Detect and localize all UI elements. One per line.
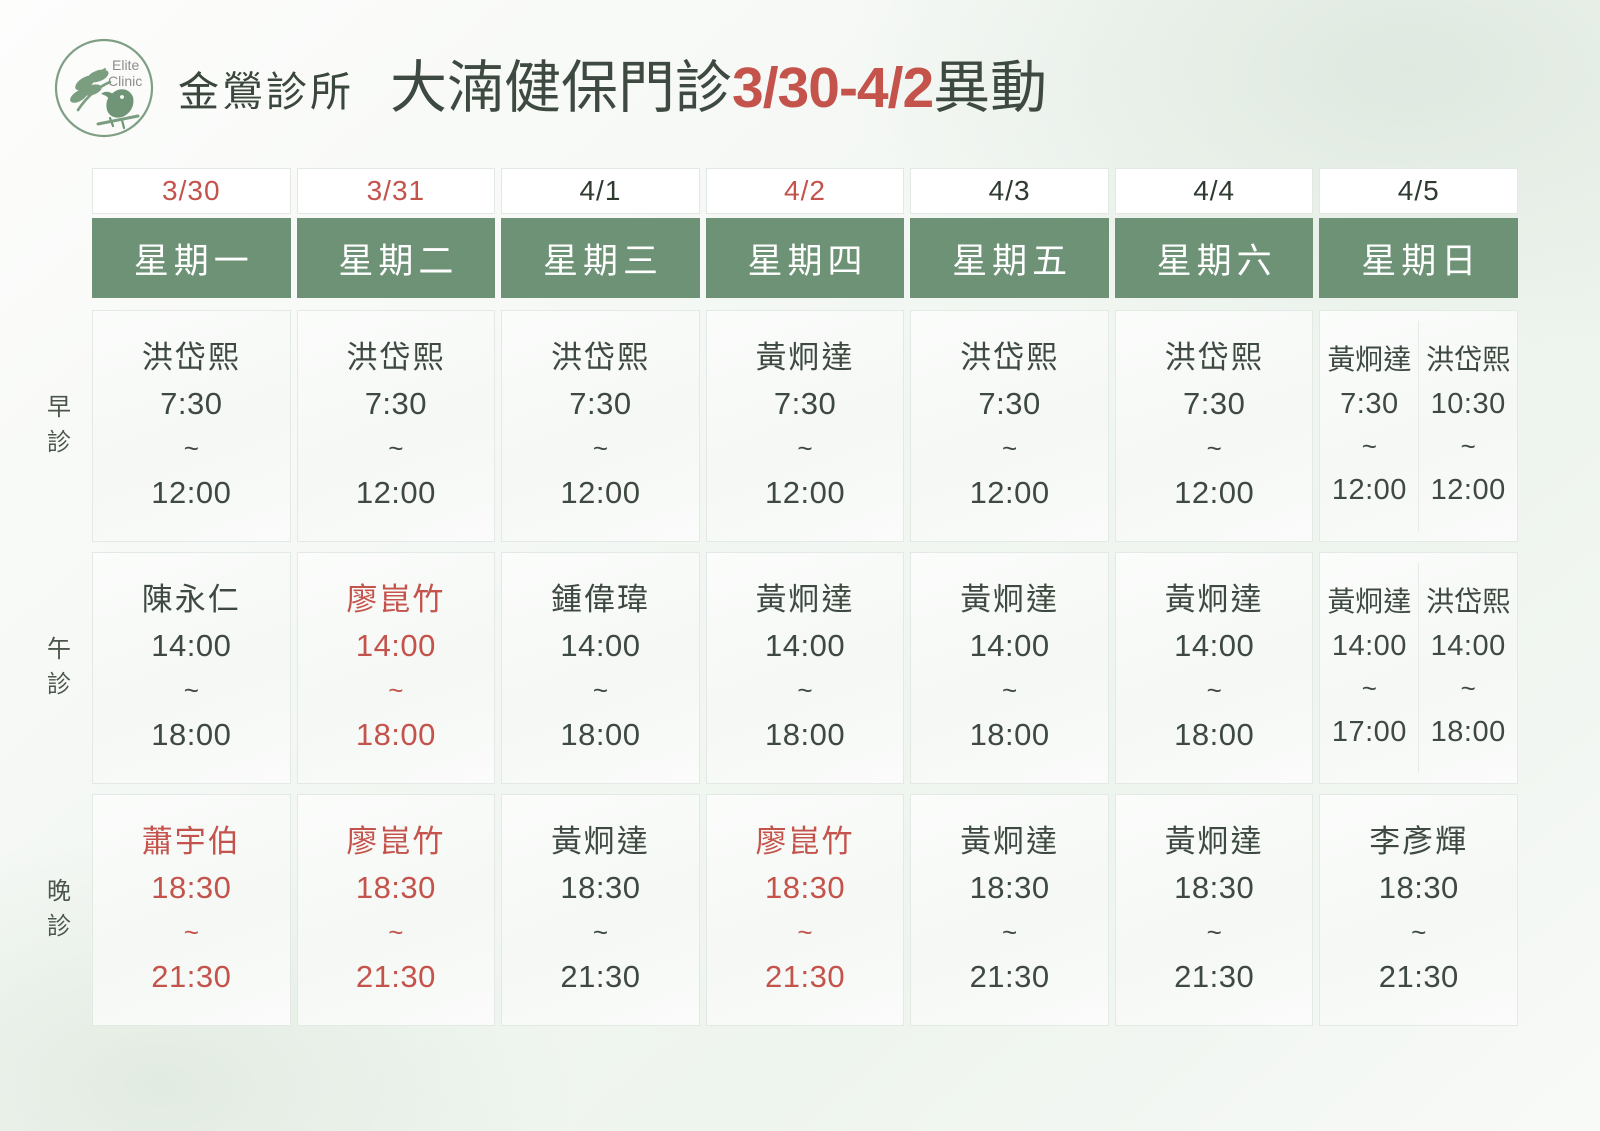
start-time: 18:30 bbox=[560, 869, 640, 908]
page-title: 大湳健保門診3/30-4/2異動 bbox=[390, 60, 1047, 117]
slot-wrap: 黃炯達7:30~12:00 bbox=[706, 310, 905, 542]
end-time: 12:00 bbox=[356, 474, 436, 513]
end-time: 21:30 bbox=[765, 958, 845, 997]
schedule-col-0: 陳永仁14:00~18:00 bbox=[92, 552, 291, 784]
end-time: 18:00 bbox=[560, 716, 640, 755]
schedule-slot[interactable]: 黃炯達18:30~21:30 bbox=[1115, 794, 1314, 1026]
schedule-slot[interactable]: 洪岱熙7:30~12:00 bbox=[297, 310, 496, 542]
start-time: 14:00 bbox=[560, 627, 640, 666]
time-separator: ~ bbox=[1362, 664, 1377, 713]
doctor-name: 洪岱熙 bbox=[346, 340, 445, 376]
title-suffix: 異動 bbox=[933, 56, 1047, 120]
time-separator: ~ bbox=[797, 666, 812, 715]
schedule-col-3: 黃炯達14:00~18:00 bbox=[706, 552, 905, 784]
weekday-cell: 星期六 bbox=[1115, 218, 1314, 298]
doctor-name: 洪岱熙 bbox=[1426, 344, 1510, 376]
schedule-col-2: 黃炯達18:30~21:30 bbox=[501, 794, 700, 1026]
split-slot-group: 黃炯達14:00~17:00洪岱熙14:00~18:00 bbox=[1320, 563, 1517, 773]
start-time: 14:00 bbox=[1431, 628, 1506, 664]
end-time: 18:00 bbox=[1174, 716, 1254, 755]
start-time: 18:30 bbox=[151, 869, 231, 908]
weekday-cell: 星期三 bbox=[501, 218, 700, 298]
date-col-3: 4/2 bbox=[706, 168, 905, 214]
end-time: 21:30 bbox=[560, 958, 640, 997]
time-separator: ~ bbox=[1461, 422, 1476, 471]
schedule-slot[interactable]: 黃炯達7:30~12:00 bbox=[706, 310, 905, 542]
clinic-name: 金鶯診所 bbox=[178, 58, 354, 118]
time-separator: ~ bbox=[1207, 908, 1222, 957]
weekday-col-0: 星期一 bbox=[92, 218, 291, 298]
doctor-name: 黃炯達 bbox=[960, 824, 1059, 860]
date-col-2: 4/1 bbox=[501, 168, 700, 214]
session-label-char: 診 bbox=[45, 426, 75, 461]
schedule-subslot[interactable]: 黃炯達14:00~17:00 bbox=[1320, 563, 1418, 773]
date-cell: 4/4 bbox=[1115, 168, 1314, 214]
doctor-name: 黃炯達 bbox=[756, 582, 855, 618]
slot-wrap: 黃炯達14:00~18:00 bbox=[706, 552, 905, 784]
start-time: 14:00 bbox=[1174, 627, 1254, 666]
time-separator: ~ bbox=[1461, 664, 1476, 713]
start-time: 14:00 bbox=[151, 627, 231, 666]
date-col-6: 4/5 bbox=[1319, 168, 1518, 214]
start-time: 18:30 bbox=[1174, 869, 1254, 908]
title-date-range: 3/30-4/2 bbox=[732, 56, 933, 120]
session-row: 午診陳永仁14:00~18:00廖崑竹14:00~18:00鍾偉瑋14:00~1… bbox=[28, 552, 1518, 784]
schedule-col-6: 黃炯達14:00~17:00洪岱熙14:00~18:00 bbox=[1319, 552, 1518, 784]
schedule-col-4: 洪岱熙7:30~12:00 bbox=[910, 310, 1109, 542]
session-label: 午診 bbox=[45, 633, 75, 703]
schedule-subslot[interactable]: 黃炯達7:30~12:00 bbox=[1320, 321, 1418, 531]
doctor-name: 廖崑竹 bbox=[756, 824, 855, 860]
schedule-col-2: 鍾偉瑋14:00~18:00 bbox=[501, 552, 700, 784]
end-time: 12:00 bbox=[1332, 472, 1407, 508]
weekday-col-1: 星期二 bbox=[297, 218, 496, 298]
schedule-poster: Elite Clinic 金鶯診所 大湳健保門診3/30-4/2異動 3/30 … bbox=[0, 0, 1600, 1131]
end-time: 18:00 bbox=[356, 716, 436, 755]
schedule-col-1: 廖崑竹18:30~21:30 bbox=[297, 794, 496, 1026]
logo-text-line2: Clinic bbox=[108, 73, 142, 89]
slot-wrap: 黃炯達18:30~21:30 bbox=[1115, 794, 1314, 1026]
schedule-slot[interactable]: 黃炯達14:00~18:00 bbox=[910, 552, 1109, 784]
doctor-name: 蕭宇伯 bbox=[142, 824, 241, 860]
end-time: 12:00 bbox=[765, 474, 845, 513]
schedule-col-6: 黃炯達7:30~12:00洪岱熙10:30~12:00 bbox=[1319, 310, 1518, 542]
slot-wrap: 洪岱熙7:30~12:00 bbox=[910, 310, 1109, 542]
schedule-slot[interactable]: 黃炯達18:30~21:30 bbox=[910, 794, 1109, 1026]
slot-wrap: 蕭宇伯18:30~21:30 bbox=[92, 794, 291, 1026]
time-separator: ~ bbox=[797, 424, 812, 473]
time-separator: ~ bbox=[388, 424, 403, 473]
schedule-slot[interactable]: 黃炯達18:30~21:30 bbox=[501, 794, 700, 1026]
time-separator: ~ bbox=[184, 424, 199, 473]
slot-wrap: 洪岱熙7:30~12:00 bbox=[501, 310, 700, 542]
weekday-cell: 星期一 bbox=[92, 218, 291, 298]
time-separator: ~ bbox=[593, 424, 608, 473]
schedule-slot[interactable]: 廖崑竹18:30~21:30 bbox=[706, 794, 905, 1026]
doctor-name: 李彥輝 bbox=[1369, 824, 1468, 860]
schedule-slot[interactable]: 蕭宇伯18:30~21:30 bbox=[92, 794, 291, 1026]
weekday-header-row: 星期一 星期二 星期三 星期四 星期五 星期六 星期日 bbox=[28, 218, 1518, 298]
clinic-logo: Elite Clinic bbox=[52, 36, 156, 140]
doctor-name: 黃炯達 bbox=[1165, 824, 1264, 860]
weekday-col-5: 星期六 bbox=[1115, 218, 1314, 298]
time-separator: ~ bbox=[593, 908, 608, 957]
time-separator: ~ bbox=[184, 908, 199, 957]
end-time: 18:00 bbox=[151, 716, 231, 755]
schedule-slot[interactable]: 黃炯達14:00~18:00 bbox=[1115, 552, 1314, 784]
schedule-slot[interactable]: 洪岱熙7:30~12:00 bbox=[501, 310, 700, 542]
start-time: 7:30 bbox=[1340, 386, 1398, 422]
slot-wrap: 鍾偉瑋14:00~18:00 bbox=[501, 552, 700, 784]
schedule-slot[interactable]: 李彥輝18:30~21:30 bbox=[1319, 794, 1518, 1026]
end-time: 12:00 bbox=[1174, 474, 1254, 513]
session-row: 早診洪岱熙7:30~12:00洪岱熙7:30~12:00洪岱熙7:30~12:0… bbox=[28, 310, 1518, 542]
date-header-row: 3/30 3/31 4/1 4/2 4/3 4/4 4/5 bbox=[28, 168, 1518, 214]
time-separator: ~ bbox=[184, 666, 199, 715]
schedule-col-5: 洪岱熙7:30~12:00 bbox=[1115, 310, 1314, 542]
start-time: 7:30 bbox=[365, 385, 427, 424]
session-rows: 早診洪岱熙7:30~12:00洪岱熙7:30~12:00洪岱熙7:30~12:0… bbox=[28, 310, 1518, 1026]
weekday-col-4: 星期五 bbox=[910, 218, 1109, 298]
slot-wrap: 廖崑竹18:30~21:30 bbox=[297, 794, 496, 1026]
end-time: 18:00 bbox=[970, 716, 1050, 755]
schedule-slot[interactable]: 陳永仁14:00~18:00 bbox=[92, 552, 291, 784]
session-label-char: 晚 bbox=[45, 875, 75, 910]
end-time: 21:30 bbox=[356, 958, 436, 997]
schedule-slot[interactable]: 廖崑竹14:00~18:00 bbox=[297, 552, 496, 784]
schedule-slot[interactable]: 洪岱熙7:30~12:00 bbox=[1115, 310, 1314, 542]
doctor-name: 黃炯達 bbox=[551, 824, 650, 860]
schedule-col-5: 黃炯達14:00~18:00 bbox=[1115, 552, 1314, 784]
date-cell: 3/31 bbox=[297, 168, 496, 214]
corner-spacer bbox=[28, 218, 92, 298]
schedule-col-4: 黃炯達18:30~21:30 bbox=[910, 794, 1109, 1026]
doctor-name: 陳永仁 bbox=[142, 582, 241, 618]
start-time: 14:00 bbox=[1332, 628, 1407, 664]
date-cell: 4/3 bbox=[910, 168, 1109, 214]
start-time: 14:00 bbox=[765, 627, 845, 666]
schedule-col-1: 洪岱熙7:30~12:00 bbox=[297, 310, 496, 542]
session-label-char: 診 bbox=[45, 668, 75, 703]
doctor-name: 廖崑竹 bbox=[346, 824, 445, 860]
session-label-char: 早 bbox=[45, 391, 75, 426]
slot-wrap: 陳永仁14:00~18:00 bbox=[92, 552, 291, 784]
schedule-col-6: 李彥輝18:30~21:30 bbox=[1319, 794, 1518, 1026]
time-separator: ~ bbox=[1411, 908, 1426, 957]
end-time: 21:30 bbox=[970, 958, 1050, 997]
schedule-slot[interactable]: 鍾偉瑋14:00~18:00 bbox=[501, 552, 700, 784]
schedule-table: 3/30 3/31 4/1 4/2 4/3 4/4 4/5 bbox=[28, 168, 1518, 1036]
schedule-col-1: 廖崑竹14:00~18:00 bbox=[297, 552, 496, 784]
doctor-name: 洪岱熙 bbox=[1165, 340, 1264, 376]
schedule-col-0: 蕭宇伯18:30~21:30 bbox=[92, 794, 291, 1026]
time-separator: ~ bbox=[1362, 422, 1377, 471]
doctor-name: 黃炯達 bbox=[756, 340, 855, 376]
slot-wrap: 洪岱熙7:30~12:00 bbox=[1115, 310, 1314, 542]
weekday-col-3: 星期四 bbox=[706, 218, 905, 298]
session-label-char: 診 bbox=[45, 910, 75, 945]
slot-wrap: 黃炯達18:30~21:30 bbox=[910, 794, 1109, 1026]
end-time: 12:00 bbox=[1431, 472, 1506, 508]
date-col-5: 4/4 bbox=[1115, 168, 1314, 214]
end-time: 12:00 bbox=[560, 474, 640, 513]
schedule-slot[interactable]: 洪岱熙7:30~12:00 bbox=[92, 310, 291, 542]
session-label-cell: 午診 bbox=[28, 552, 92, 784]
schedule-slot[interactable]: 黃炯達7:30~12:00洪岱熙10:30~12:00 bbox=[1319, 310, 1518, 542]
schedule-col-4: 黃炯達14:00~18:00 bbox=[910, 552, 1109, 784]
schedule-col-5: 黃炯達18:30~21:30 bbox=[1115, 794, 1314, 1026]
session-label: 早診 bbox=[45, 391, 75, 461]
doctor-name: 黃炯達 bbox=[1327, 344, 1411, 376]
start-time: 14:00 bbox=[356, 627, 436, 666]
doctor-name: 洪岱熙 bbox=[960, 340, 1059, 376]
doctor-name: 黃炯達 bbox=[1327, 586, 1411, 618]
time-separator: ~ bbox=[388, 666, 403, 715]
weekday-cell: 星期五 bbox=[910, 218, 1109, 298]
end-time: 17:00 bbox=[1332, 714, 1407, 750]
time-separator: ~ bbox=[1207, 424, 1222, 473]
doctor-name: 黃炯達 bbox=[1165, 582, 1264, 618]
date-cell: 4/2 bbox=[706, 168, 905, 214]
date-col-4: 4/3 bbox=[910, 168, 1109, 214]
date-cell: 4/5 bbox=[1319, 168, 1518, 214]
schedule-col-3: 黃炯達7:30~12:00 bbox=[706, 310, 905, 542]
title-prefix: 大湳健保門診 bbox=[390, 56, 732, 120]
session-label-char: 午 bbox=[45, 633, 75, 668]
date-col-1: 3/31 bbox=[297, 168, 496, 214]
date-col-0: 3/30 bbox=[92, 168, 291, 214]
end-time: 12:00 bbox=[151, 474, 231, 513]
doctor-name: 洪岱熙 bbox=[551, 340, 650, 376]
date-cell: 3/30 bbox=[92, 168, 291, 214]
time-separator: ~ bbox=[1002, 908, 1017, 957]
schedule-slot[interactable]: 廖崑竹18:30~21:30 bbox=[297, 794, 496, 1026]
doctor-name: 廖崑竹 bbox=[346, 582, 445, 618]
start-time: 14:00 bbox=[970, 627, 1050, 666]
start-time: 7:30 bbox=[978, 385, 1040, 424]
start-time: 7:30 bbox=[160, 385, 222, 424]
weekday-col-2: 星期三 bbox=[501, 218, 700, 298]
schedule-col-3: 廖崑竹18:30~21:30 bbox=[706, 794, 905, 1026]
slot-wrap: 黃炯達14:00~18:00 bbox=[1115, 552, 1314, 784]
session-label-cell: 晚診 bbox=[28, 794, 92, 1026]
start-time: 10:30 bbox=[1431, 386, 1506, 422]
session-label-cell: 早診 bbox=[28, 310, 92, 542]
logo-text-line1: Elite bbox=[112, 57, 139, 73]
session-label: 晚診 bbox=[45, 875, 75, 945]
end-time: 21:30 bbox=[1174, 958, 1254, 997]
schedule-col-0: 洪岱熙7:30~12:00 bbox=[92, 310, 291, 542]
doctor-name: 洪岱熙 bbox=[1426, 586, 1510, 618]
time-separator: ~ bbox=[1002, 666, 1017, 715]
weekday-cell: 星期四 bbox=[706, 218, 905, 298]
slot-wrap: 黃炯達14:00~17:00洪岱熙14:00~18:00 bbox=[1319, 552, 1518, 784]
start-time: 7:30 bbox=[569, 385, 631, 424]
slot-wrap: 廖崑竹18:30~21:30 bbox=[706, 794, 905, 1026]
start-time: 18:30 bbox=[1379, 869, 1459, 908]
start-time: 7:30 bbox=[1183, 385, 1245, 424]
schedule-subslot[interactable]: 洪岱熙10:30~12:00 bbox=[1418, 321, 1517, 531]
schedule-slot[interactable]: 黃炯達14:00~18:00 bbox=[706, 552, 905, 784]
slot-wrap: 黃炯達7:30~12:00洪岱熙10:30~12:00 bbox=[1319, 310, 1518, 542]
end-time: 21:30 bbox=[151, 958, 231, 997]
slot-wrap: 黃炯達18:30~21:30 bbox=[501, 794, 700, 1026]
weekday-cell: 星期二 bbox=[297, 218, 496, 298]
doctor-name: 黃炯達 bbox=[960, 582, 1059, 618]
time-separator: ~ bbox=[1002, 424, 1017, 473]
start-time: 18:30 bbox=[765, 869, 845, 908]
doctor-name: 鍾偉瑋 bbox=[551, 582, 650, 618]
corner-spacer bbox=[28, 168, 92, 214]
time-separator: ~ bbox=[593, 666, 608, 715]
session-row: 晚診蕭宇伯18:30~21:30廖崑竹18:30~21:30黃炯達18:30~2… bbox=[28, 794, 1518, 1026]
poster-header: Elite Clinic 金鶯診所 大湳健保門診3/30-4/2異動 bbox=[0, 0, 1600, 140]
slot-wrap: 李彥輝18:30~21:30 bbox=[1319, 794, 1518, 1026]
end-time: 18:00 bbox=[765, 716, 845, 755]
time-separator: ~ bbox=[797, 908, 812, 957]
split-slot-group: 黃炯達7:30~12:00洪岱熙10:30~12:00 bbox=[1320, 321, 1517, 531]
slot-wrap: 洪岱熙7:30~12:00 bbox=[297, 310, 496, 542]
time-separator: ~ bbox=[388, 908, 403, 957]
slot-wrap: 洪岱熙7:30~12:00 bbox=[92, 310, 291, 542]
slot-wrap: 黃炯達14:00~18:00 bbox=[910, 552, 1109, 784]
weekday-cell: 星期日 bbox=[1319, 218, 1518, 298]
end-time: 18:00 bbox=[1431, 714, 1506, 750]
schedule-subslot[interactable]: 洪岱熙14:00~18:00 bbox=[1418, 563, 1517, 773]
start-time: 18:30 bbox=[356, 869, 436, 908]
slot-wrap: 廖崑竹14:00~18:00 bbox=[297, 552, 496, 784]
schedule-col-2: 洪岱熙7:30~12:00 bbox=[501, 310, 700, 542]
start-time: 18:30 bbox=[970, 869, 1050, 908]
schedule-slot[interactable]: 黃炯達14:00~17:00洪岱熙14:00~18:00 bbox=[1319, 552, 1518, 784]
end-time: 12:00 bbox=[970, 474, 1050, 513]
doctor-name: 洪岱熙 bbox=[142, 340, 241, 376]
weekday-col-6: 星期日 bbox=[1319, 218, 1518, 298]
time-separator: ~ bbox=[1207, 666, 1222, 715]
end-time: 21:30 bbox=[1379, 958, 1459, 997]
start-time: 7:30 bbox=[774, 385, 836, 424]
date-cell: 4/1 bbox=[501, 168, 700, 214]
schedule-slot[interactable]: 洪岱熙7:30~12:00 bbox=[910, 310, 1109, 542]
